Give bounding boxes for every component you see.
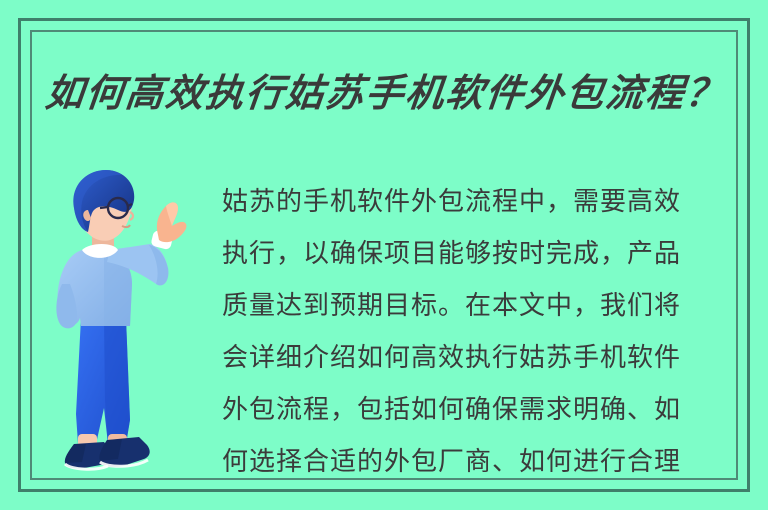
- figure-head: [73, 170, 134, 241]
- figure-legs: [76, 318, 130, 444]
- figure-shoes: [65, 437, 150, 469]
- article-line: 何选择合适的外包厂商、如何进行合理: [222, 436, 732, 488]
- article-body: 姑苏的手机软件外包流程中，需要高效 执行，以确保项目能够按时完成，产品 质量达到…: [222, 176, 732, 488]
- article-line: 姑苏的手机软件外包流程中，需要高效: [222, 176, 732, 228]
- person-pointing-illustration: [52, 168, 222, 480]
- figure-pointing-hand: [157, 202, 187, 242]
- page-title: 如何高效执行姑苏手机软件外包流程？: [43, 58, 740, 120]
- article-line: 执行，以确保项目能够按时完成，产品: [222, 228, 732, 280]
- article-line: 会详细介绍如何高效执行姑苏手机软件: [222, 332, 732, 384]
- article-line: 外包流程，包括如何确保需求明确、如: [222, 384, 732, 436]
- article-line: 质量达到预期目标。在本文中，我们将: [222, 280, 732, 332]
- poster-canvas: 如何高效执行姑苏手机软件外包流程？: [0, 0, 768, 510]
